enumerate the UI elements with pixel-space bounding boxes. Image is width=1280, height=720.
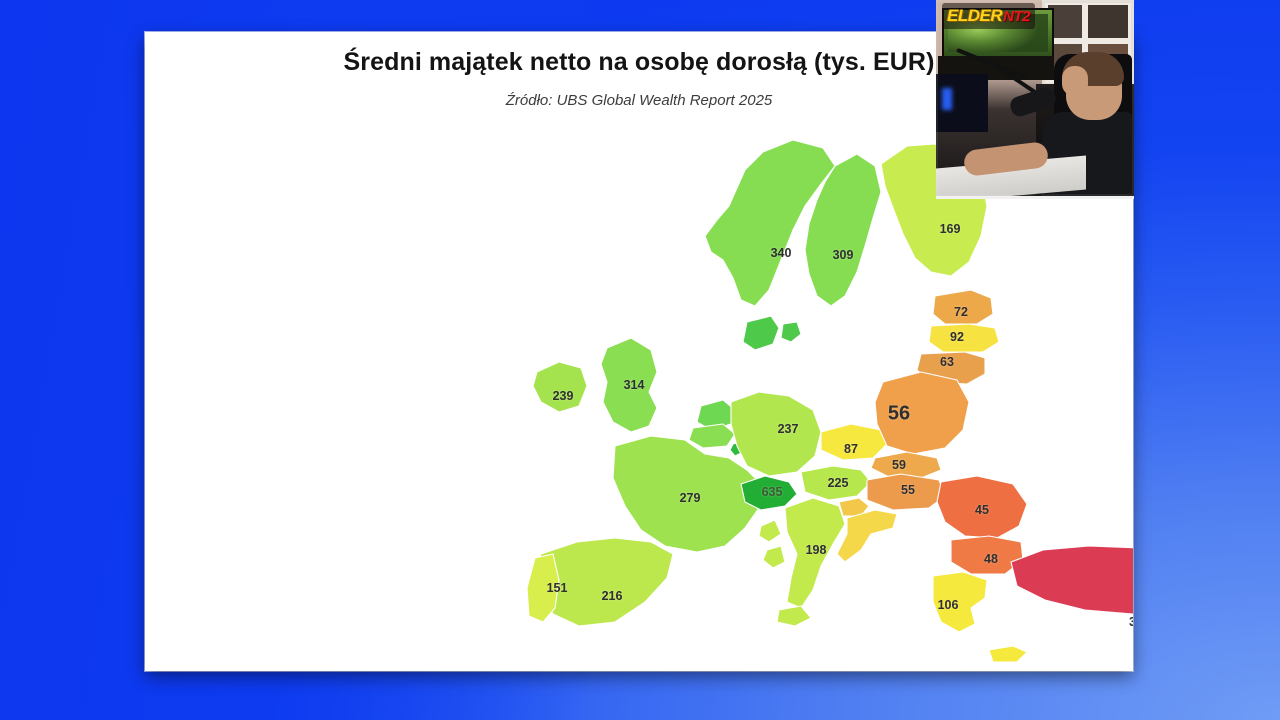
map-label-greece: 106	[938, 598, 959, 612]
map-label-lithuania: 63	[940, 355, 954, 369]
map-label-latvia: 92	[950, 330, 964, 344]
streamer-hand	[1062, 66, 1088, 96]
channel-logo-primary: ELDER	[947, 6, 1002, 26]
map-label-switzerland: 635	[762, 485, 783, 499]
map-label-austria: 225	[828, 476, 849, 490]
map-label-france: 279	[680, 491, 701, 505]
map-label-slovakia: 59	[892, 458, 906, 472]
stream-screen: Średni majątek netto na osobę dorosłą (t…	[0, 0, 1280, 720]
map-label-estonia: 72	[954, 305, 968, 319]
map-label-poland: 56	[888, 403, 910, 426]
map-label-portugal: 151	[547, 581, 568, 595]
map-label-ireland: 239	[553, 389, 574, 403]
map-label-romania: 45	[975, 503, 989, 517]
channel-logo: ELDER NT2	[942, 3, 1035, 29]
desktop-pc	[936, 74, 988, 132]
map-label-norway: 340	[771, 246, 792, 260]
map-label-turkey: 30	[1129, 615, 1133, 629]
webcam-overlay: ELDER NT2	[936, 0, 1134, 199]
map-label-bulgaria: 48	[984, 552, 998, 566]
map-label-italy: 198	[806, 543, 827, 557]
map-label-finland: 169	[940, 222, 961, 236]
map-label-sweden: 309	[833, 248, 854, 262]
channel-logo-secondary: NT2	[1003, 8, 1030, 25]
map-label-spain: 216	[602, 589, 623, 603]
map-label-germany: 237	[778, 422, 799, 436]
map-label-hungary: 55	[901, 483, 915, 497]
map-label-united-kingdom: 314	[624, 378, 645, 392]
map-label-czechia: 87	[844, 442, 858, 456]
